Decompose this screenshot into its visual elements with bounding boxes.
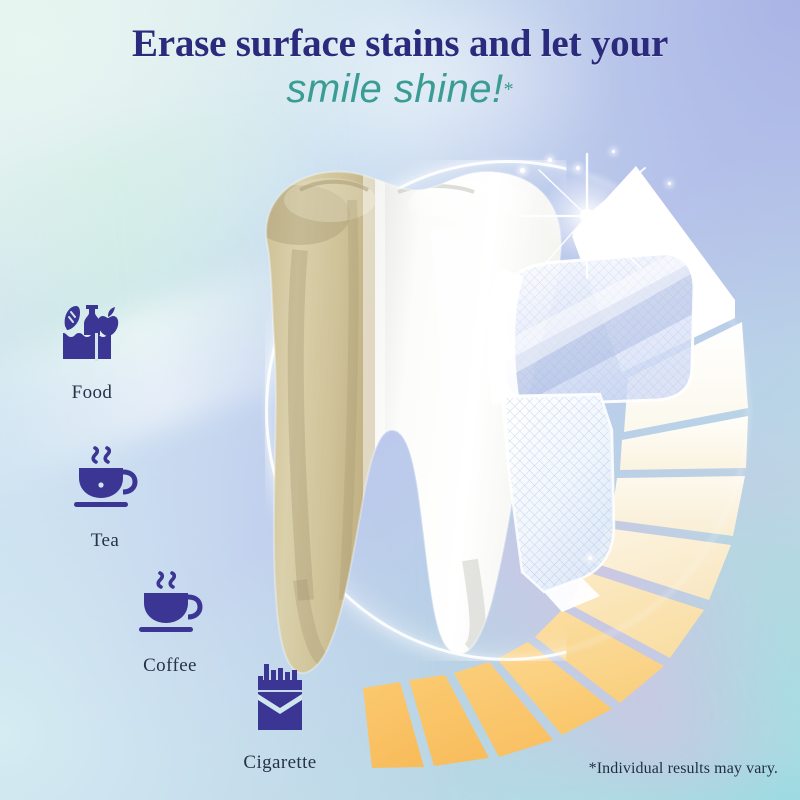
stain-source-label-tea: Tea xyxy=(55,530,155,552)
sparkle-dot-7 xyxy=(588,556,592,560)
ad-canvas: Erase surface stains and let your smile … xyxy=(0,0,800,800)
teacup-icon xyxy=(55,440,155,523)
sparkle-dot-1 xyxy=(520,168,525,173)
stain-source-food[interactable]: Food xyxy=(42,292,142,404)
strip-lower-tail xyxy=(495,385,625,600)
stain-source-label-cigarette: Cigarette xyxy=(225,752,335,774)
headline-asterisk: * xyxy=(504,79,514,101)
stain-sources-list: Food xyxy=(0,0,360,800)
sparkle-dot-4 xyxy=(612,150,615,153)
sparkle-dot-3 xyxy=(576,166,580,170)
cigarette-pack-icon xyxy=(225,662,335,745)
sparkle-dot-2 xyxy=(548,158,552,162)
grocery-bag-icon xyxy=(42,292,142,375)
stain-source-label-coffee: Coffee xyxy=(120,655,220,677)
stain-source-label-food: Food xyxy=(42,382,142,404)
sparkle-dot-6 xyxy=(668,182,671,185)
stain-source-coffee[interactable]: Coffee xyxy=(120,565,220,677)
stain-source-tea[interactable]: Tea xyxy=(55,440,155,552)
stain-source-cigarette[interactable]: Cigarette xyxy=(225,662,335,774)
footnote-disclaimer: *Individual results may vary. xyxy=(589,760,778,778)
coffee-cup-icon xyxy=(120,565,220,648)
sparkle-dot-5 xyxy=(600,208,604,212)
